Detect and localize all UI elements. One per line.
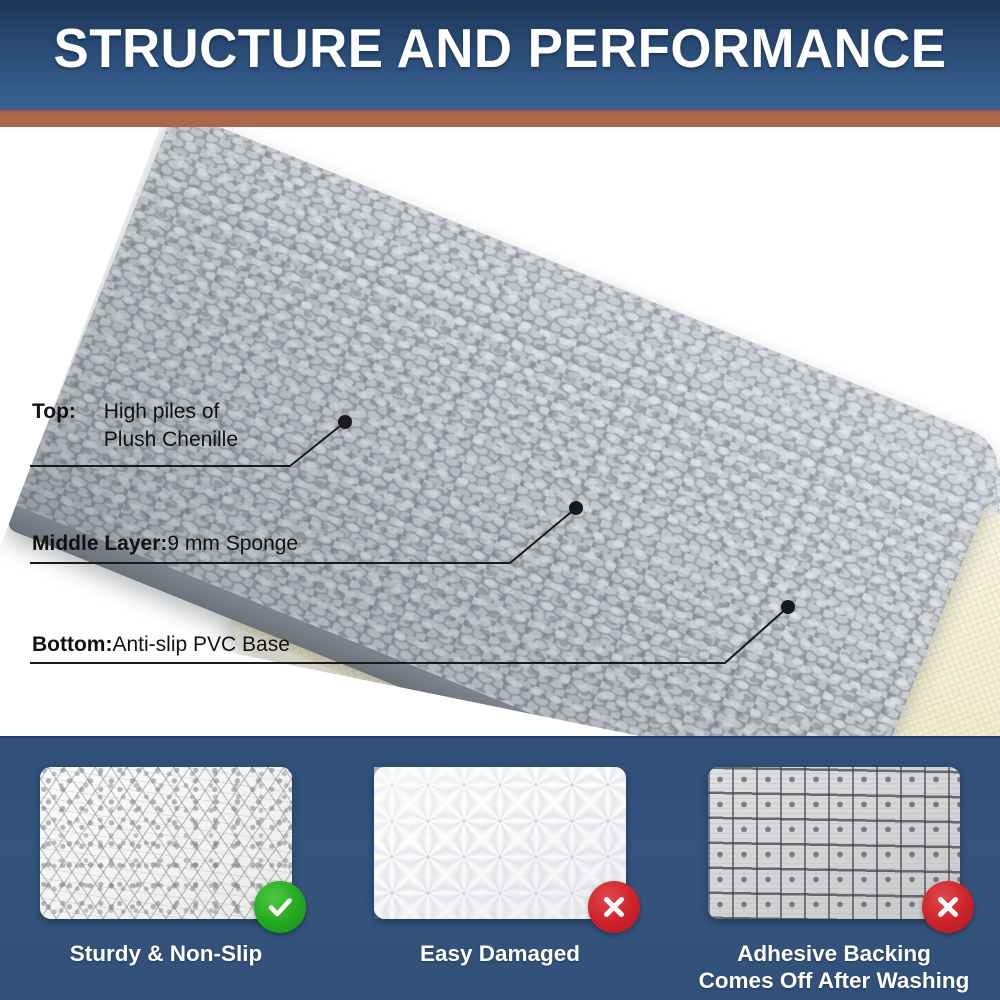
callout-top-value-line2: Plush Chenille [104, 428, 238, 451]
callout-middle: Middle Layer:9 mm Sponge [32, 530, 298, 558]
swatch-wrap-easy-damaged [374, 767, 626, 919]
swatch-star-foam [374, 767, 626, 919]
header-accent-strip [0, 110, 1000, 127]
comparison-card-adhesive-backing: Adhesive Backing Comes Off After Washing [690, 738, 978, 1000]
callout-top-key: Top: [32, 400, 76, 423]
pvc-mesh-texture [40, 767, 292, 919]
page-title: STRUCTURE AND PERFORMANCE [20, 17, 980, 79]
header-banner: STRUCTURE AND PERFORMANCE [0, 0, 1000, 110]
card-caption-sturdy-line1: Sturdy & Non-Slip [70, 941, 263, 966]
swatch-adhesive-grid [708, 767, 960, 919]
cross-icon [922, 881, 974, 933]
callout-top: Top: High piles of Plush Chenille [32, 398, 238, 454]
callout-bottom-value: Anti-slip PVC Base [112, 633, 289, 656]
callout-dot-top [338, 415, 352, 429]
check-icon [254, 881, 306, 933]
callout-dot-bottom [781, 600, 795, 614]
callout-bottom-key: Bottom: [32, 633, 112, 656]
callout-dot-middle [569, 501, 583, 515]
callout-middle-value: 9 mm Sponge [167, 532, 298, 555]
callout-middle-key: Middle Layer: [32, 532, 167, 555]
star-foam-shading [374, 767, 626, 919]
card-caption-easy-damaged: Easy Damaged [420, 940, 580, 967]
comparison-card-sturdy: Sturdy & Non-Slip [22, 738, 310, 1000]
adhesive-grid-weave-texture [708, 767, 960, 919]
comparison-card-easy-damaged: Easy Damaged [356, 738, 644, 1000]
comparison-panel: Sturdy & Non-Slip Eas [0, 736, 1000, 1000]
swatch-wrap-adhesive-backing [708, 767, 960, 919]
swatch-wrap-sturdy [40, 767, 292, 919]
card-caption-adhesive-backing: Adhesive Backing Comes Off After Washing [699, 940, 970, 994]
callout-bottom: Bottom:Anti-slip PVC Base [32, 631, 290, 659]
cross-icon [588, 881, 640, 933]
card-caption-adhesive-backing-line1: Adhesive Backing [737, 941, 931, 966]
card-caption-easy-damaged-line1: Easy Damaged [420, 941, 580, 966]
card-caption-adhesive-backing-line2: Comes Off After Washing [699, 968, 970, 993]
infographic-page: STRUCTURE AND PERFORMANCE Top: High pile… [0, 0, 1000, 1000]
card-caption-sturdy: Sturdy & Non-Slip [70, 940, 263, 967]
callout-top-value-line1: High piles of [104, 400, 220, 423]
comparison-card-list: Sturdy & Non-Slip Eas [0, 738, 1000, 1000]
swatch-pvc-mesh [40, 767, 292, 919]
